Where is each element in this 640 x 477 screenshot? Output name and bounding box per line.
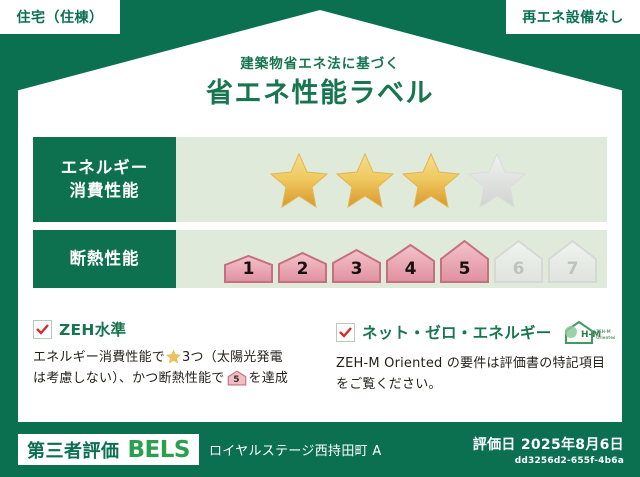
grade-number-2: 2 [276,259,329,279]
zeh-house-logo-icon: H-M ZEH-M Oriented [561,318,615,346]
net-zero-checkbox[interactable] [336,323,355,342]
building-type-tag: 住宅（住棟） [0,0,120,34]
info-sections: ZEH水準 エネルギー消費性能で3つ（太陽光発電は考慮しない）、かつ断熱性能で5… [33,318,611,396]
evaluation-date: 評価日 2025年8月6日 [473,434,624,454]
label-title-block: 建築物省エネ法に基づく 省エネ性能ラベル [0,56,640,111]
star-icon-empty-4 [466,150,528,210]
insulation-grade-5: 5 [438,239,491,284]
evaluation-id: dd3256d2-655f-4b6a [473,456,624,466]
zeh-logo-sub1: ZEH-M [596,329,611,334]
insulation-grade-6: 6 [492,239,545,284]
energy-label-line2: 消費性能 [70,180,140,202]
inline-badge-value: 5 [227,373,247,388]
star-icon-filled-3 [400,150,462,210]
grade-number-1: 1 [222,259,275,279]
zeh-logo-sub2: Oriented [596,335,615,340]
zeh-text-part3: は考慮しない）、かつ断熱性能で [33,371,225,386]
star-rating [268,150,528,210]
net-zero-description: ZEH-M Oriented の要件は評価書の特記項目をご覧ください。 [336,353,611,396]
insulation-label-line1: 断熱性能 [70,248,140,270]
building-name: ロイヤルステージ西持田町 A [209,440,382,459]
bels-jp-label: 第三者評価 [27,437,120,463]
zeh-text-part1: エネルギー消費性能で [33,350,165,365]
renewable-energy-tag: 再エネ設備なし [506,0,640,34]
energy-consumption-label: エネルギー 消費性能 [33,137,176,222]
footer-bar: 第三者評価 BELS ロイヤルステージ西持田町 A 評価日 2025年8月6日 … [0,422,640,477]
zeh-standard-description: エネルギー消費性能で3つ（太陽光発電は考慮しない）、かつ断熱性能で5を達成 [33,347,322,394]
insulation-grade-3: 3 [330,248,383,284]
bels-certification-badge: 第三者評価 BELS [18,434,199,465]
insulation-grade-1: 1 [222,254,275,284]
net-zero-header: ネット・ゼロ・エネルギー H-M ZEH-M Oriented [336,318,611,346]
energy-label-line1: エネルギー [61,157,149,179]
page-title: 省エネ性能ラベル [0,78,640,110]
check-icon [339,327,352,338]
bels-en-label: BELS [128,437,190,463]
grade-number-7: 7 [546,259,599,279]
insulation-performance-value: 1 2 3 [176,230,607,288]
grade-number-3: 3 [330,259,383,279]
house-icon-inline-badge: 5 [227,370,247,393]
net-zero-title: ネット・ゼロ・エネルギー [362,321,552,343]
grade-number-5: 5 [438,259,491,279]
zeh-standard-header: ZEH水準 [33,318,322,340]
insulation-performance-row: 断熱性能 1 [33,230,607,288]
title-subtitle: 建築物省エネ法に基づく [0,56,640,72]
energy-consumption-row: エネルギー 消費性能 [33,137,607,222]
net-zero-energy-section: ネット・ゼロ・エネルギー H-M ZEH-M Oriented ZEH-M Or… [322,318,611,396]
insulation-grade-4: 4 [384,243,437,284]
star-icon-inline [166,349,181,364]
energy-consumption-value [176,137,607,222]
grade-number-6: 6 [492,259,545,279]
check-icon [36,324,49,335]
insulation-grade-7: 7 [546,239,599,284]
insulation-grade-scale: 1 2 3 [222,234,600,284]
zeh-standard-title: ZEH水準 [59,318,126,340]
zeh-m-oriented-logo: H-M ZEH-M Oriented [561,318,615,346]
zeh-text-part4: を達成 [249,371,289,386]
zeh-standard-checkbox[interactable] [33,320,52,339]
zeh-text-part2: 3つ（太陽光発電 [182,350,283,365]
star-icon-filled-2 [334,150,396,210]
performance-rows: エネルギー 消費性能 [33,137,607,296]
energy-performance-label: 住宅（住棟） 再エネ設備なし 建築物省エネ法に基づく 省エネ性能ラベル エネルギ… [0,0,640,477]
star-icon-filled-1 [268,150,330,210]
evaluation-info: 評価日 2025年8月6日 dd3256d2-655f-4b6a [473,434,624,466]
zeh-standard-section: ZEH水準 エネルギー消費性能で3つ（太陽光発電は考慮しない）、かつ断熱性能で5… [33,318,322,396]
insulation-grade-2: 2 [276,251,329,284]
grade-number-4: 4 [384,259,437,279]
insulation-performance-label: 断熱性能 [33,230,176,288]
